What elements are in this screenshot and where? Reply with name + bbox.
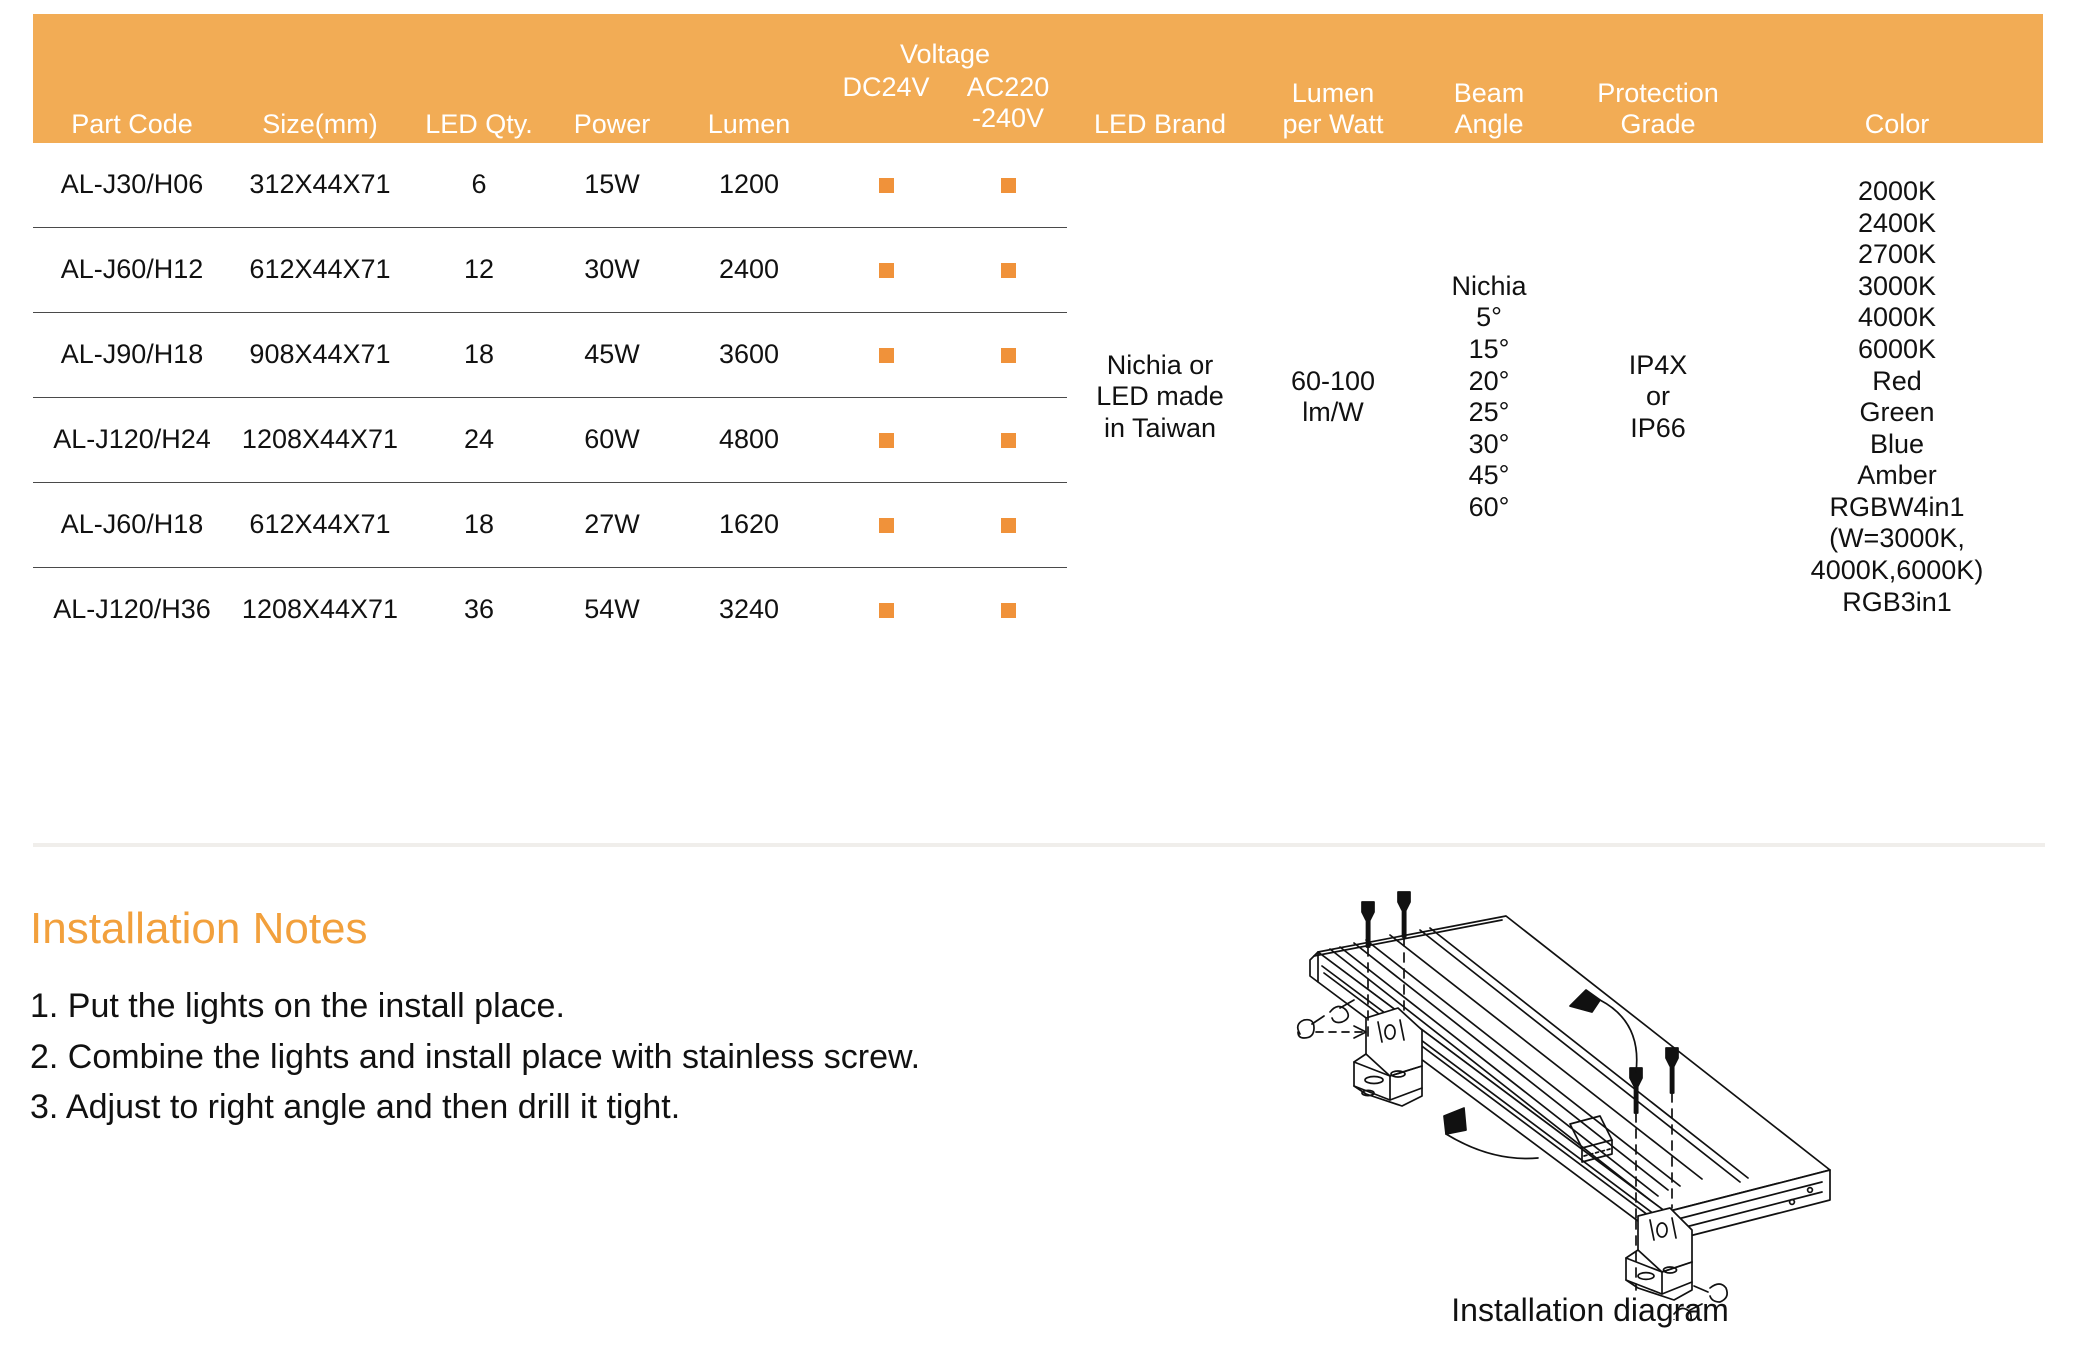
- cell-size: 908X44X71: [231, 312, 409, 397]
- color-line: 4000K: [1751, 302, 2043, 334]
- dc24v-marker-icon: [879, 348, 894, 363]
- col-header-beam-angle-line1: Beam: [1415, 78, 1563, 109]
- cell-part-code: AL-J60/H18: [33, 482, 231, 567]
- col-header-protection-grade-line1: Protection: [1567, 78, 1749, 109]
- table-body: AL-J30/H06 312X44X71 6 15W 1200 Nichia o…: [33, 143, 2043, 652]
- beam-angle-line: 15°: [1413, 334, 1565, 366]
- cell-size: 612X44X71: [231, 482, 409, 567]
- cell-led-brand: Nichia or LED made in Taiwan: [1067, 143, 1253, 652]
- cell-part-code: AL-J60/H12: [33, 227, 231, 312]
- col-header-ac220-line1: AC220: [951, 72, 1065, 103]
- cell-dc24v: [823, 312, 949, 397]
- section-divider: [33, 843, 2045, 847]
- cell-lumen: 1620: [675, 482, 823, 567]
- led-brand-line: LED made: [1067, 381, 1253, 413]
- beam-angle-line: 25°: [1413, 397, 1565, 429]
- cell-lumen: 3240: [675, 567, 823, 652]
- installation-note-item: 3. Adjust to right angle and then drill …: [30, 1082, 1180, 1132]
- cell-part-code: AL-J120/H36: [33, 567, 231, 652]
- installation-notes-section: Installation Notes 1. Put the lights on …: [30, 905, 1180, 1132]
- cell-power: 60W: [549, 397, 675, 482]
- beam-angle-line: 5°: [1413, 302, 1565, 334]
- col-header-beam-angle-line2: Angle: [1415, 109, 1563, 140]
- cell-beam-angle: Nichia 5° 15° 20° 25° 30° 45° 60°: [1413, 143, 1565, 652]
- cell-power: 30W: [549, 227, 675, 312]
- cell-led-qty: 24: [409, 397, 549, 482]
- ac220-marker-icon: [1001, 263, 1016, 278]
- installation-note-item: 2. Combine the lights and install place …: [30, 1032, 1180, 1082]
- cell-dc24v: [823, 567, 949, 652]
- cell-power: 45W: [549, 312, 675, 397]
- col-header-size: Size(mm): [231, 14, 409, 143]
- table-header-row-top: Part Code Size(mm) LED Qty. Power Lumen …: [33, 14, 2043, 72]
- col-header-protection-grade-line2: Grade: [1567, 109, 1749, 140]
- protection-grade-line: or: [1565, 381, 1751, 413]
- color-line: RGB3in1: [1751, 587, 2043, 619]
- color-line: Green: [1751, 397, 2043, 429]
- beam-angle-line: 30°: [1413, 429, 1565, 461]
- dc24v-marker-icon: [879, 603, 894, 618]
- cell-size: 1208X44X71: [231, 397, 409, 482]
- col-header-lumen: Lumen: [675, 14, 823, 143]
- table-row: AL-J30/H06 312X44X71 6 15W 1200 Nichia o…: [33, 143, 2043, 228]
- ac220-marker-icon: [1001, 348, 1016, 363]
- col-header-beam-angle: Beam Angle: [1413, 14, 1565, 143]
- led-brand-line: in Taiwan: [1067, 413, 1253, 445]
- color-line: 2400K: [1751, 208, 2043, 240]
- col-header-ac220-line2: -240V: [951, 103, 1065, 134]
- cell-dc24v: [823, 227, 949, 312]
- color-line: RGBW4in1: [1751, 492, 2043, 524]
- cell-part-code: AL-J30/H06: [33, 143, 231, 228]
- col-header-lumen-per-watt-line1: Lumen: [1255, 78, 1411, 109]
- installation-diagram-caption: Installation diagram: [1270, 1292, 1910, 1329]
- color-line: Blue: [1751, 429, 2043, 461]
- color-line: (W=3000K,: [1751, 523, 2043, 555]
- spec-table-container: Part Code Size(mm) LED Qty. Power Lumen …: [33, 14, 2043, 652]
- cell-ac220: [949, 397, 1067, 482]
- col-header-lumen-per-watt: Lumen per Watt: [1253, 14, 1413, 143]
- beam-angle-line: 45°: [1413, 460, 1565, 492]
- dc24v-marker-icon: [879, 433, 894, 448]
- specification-table: Part Code Size(mm) LED Qty. Power Lumen …: [33, 14, 2043, 652]
- ac220-marker-icon: [1001, 433, 1016, 448]
- cell-part-code: AL-J120/H24: [33, 397, 231, 482]
- installation-diagram-illustration: [1270, 890, 1910, 1320]
- col-header-led-brand: LED Brand: [1067, 14, 1253, 143]
- col-header-led-qty: LED Qty.: [409, 14, 549, 143]
- dc24v-marker-icon: [879, 518, 894, 533]
- col-header-color: Color: [1751, 14, 2043, 143]
- cell-part-code: AL-J90/H18: [33, 312, 231, 397]
- ac220-marker-icon: [1001, 518, 1016, 533]
- protection-grade-line: IP4X: [1565, 350, 1751, 382]
- cell-size: 612X44X71: [231, 227, 409, 312]
- col-header-protection-grade: Protection Grade: [1565, 14, 1751, 143]
- beam-angle-line: 60°: [1413, 492, 1565, 524]
- cell-dc24v: [823, 482, 949, 567]
- cell-color: 2000K 2400K 2700K 3000K 4000K 6000K Red …: [1751, 143, 2043, 652]
- linear-light-exploded-view-svg: [1270, 890, 1910, 1320]
- ac220-marker-icon: [1001, 603, 1016, 618]
- cell-ac220: [949, 312, 1067, 397]
- col-header-dc24v: DC24V: [823, 72, 949, 143]
- cell-led-qty: 6: [409, 143, 549, 228]
- cell-dc24v: [823, 397, 949, 482]
- cell-lumen: 3600: [675, 312, 823, 397]
- cell-ac220: [949, 482, 1067, 567]
- col-header-lumen-per-watt-line2: per Watt: [1255, 109, 1411, 140]
- cell-size: 1208X44X71: [231, 567, 409, 652]
- led-brand-line: Nichia or: [1067, 350, 1253, 382]
- cell-power: 27W: [549, 482, 675, 567]
- color-line: 2700K: [1751, 239, 2043, 271]
- color-line: 4000K,6000K): [1751, 555, 2043, 587]
- col-header-part-code: Part Code: [33, 14, 231, 143]
- installation-notes-title: Installation Notes: [30, 905, 1180, 953]
- cell-protection-grade: IP4X or IP66: [1565, 143, 1751, 652]
- cell-led-qty: 18: [409, 482, 549, 567]
- protection-grade-line: IP66: [1565, 413, 1751, 445]
- lumen-per-watt-line: lm/W: [1253, 397, 1413, 429]
- lumen-per-watt-line: 60-100: [1253, 366, 1413, 398]
- dc24v-marker-icon: [879, 263, 894, 278]
- cell-lumen: 4800: [675, 397, 823, 482]
- cell-led-qty: 18: [409, 312, 549, 397]
- cell-lumen: 1200: [675, 143, 823, 228]
- ac220-marker-icon: [1001, 178, 1016, 193]
- installation-note-item: 1. Put the lights on the install place.: [30, 981, 1180, 1031]
- color-line: Amber: [1751, 460, 2043, 492]
- cell-lumen: 2400: [675, 227, 823, 312]
- table-header: Part Code Size(mm) LED Qty. Power Lumen …: [33, 14, 2043, 143]
- dc24v-marker-icon: [879, 178, 894, 193]
- cell-power: 15W: [549, 143, 675, 228]
- color-line: Red: [1751, 366, 2043, 398]
- cell-lumen-per-watt: 60-100 lm/W: [1253, 143, 1413, 652]
- cell-size: 312X44X71: [231, 143, 409, 228]
- cell-ac220: [949, 567, 1067, 652]
- cell-ac220: [949, 227, 1067, 312]
- cell-dc24v: [823, 143, 949, 228]
- col-header-voltage-group: Voltage: [823, 14, 1067, 72]
- color-line: 6000K: [1751, 334, 2043, 366]
- col-header-power: Power: [549, 14, 675, 143]
- cell-led-qty: 12: [409, 227, 549, 312]
- col-header-ac220: AC220 -240V: [949, 72, 1067, 143]
- beam-angle-line: Nichia: [1413, 271, 1565, 303]
- color-line: 3000K: [1751, 271, 2043, 303]
- cell-ac220: [949, 143, 1067, 228]
- beam-angle-line: 20°: [1413, 366, 1565, 398]
- cell-power: 54W: [549, 567, 675, 652]
- cell-led-qty: 36: [409, 567, 549, 652]
- installation-notes-list: 1. Put the lights on the install place. …: [30, 981, 1180, 1132]
- color-line: 2000K: [1751, 176, 2043, 208]
